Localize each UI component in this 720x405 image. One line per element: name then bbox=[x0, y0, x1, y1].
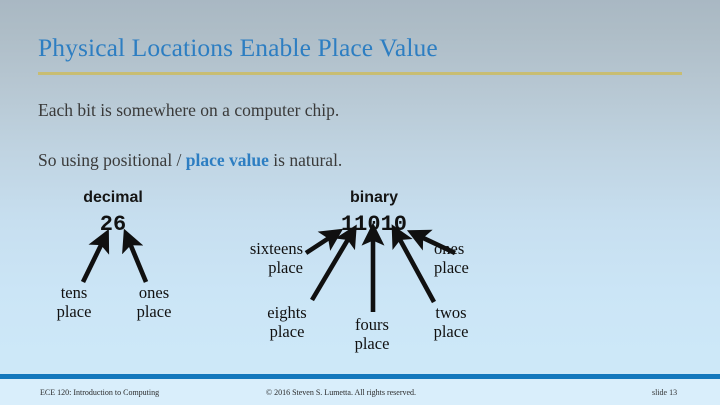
arrow-decimal-ones bbox=[129, 241, 146, 282]
arrow-binary-twos bbox=[398, 236, 434, 302]
place-value-diagram: decimal 26 tens place ones place binary … bbox=[0, 0, 720, 405]
arrow-decimal-tens bbox=[83, 241, 103, 282]
slide-canvas: Physical Locations Enable Place Value Ea… bbox=[0, 0, 720, 405]
arrow-binary-sixteens bbox=[306, 236, 332, 253]
footer-copyright: © 2016 Steven S. Lumetta. All rights res… bbox=[266, 388, 416, 397]
arrow-layer bbox=[0, 0, 720, 405]
arrow-binary-ones bbox=[419, 236, 455, 253]
footer-course-name: ECE 120: Introduction to Computing bbox=[40, 388, 159, 397]
footer-slide-number: slide 13 bbox=[652, 388, 677, 397]
